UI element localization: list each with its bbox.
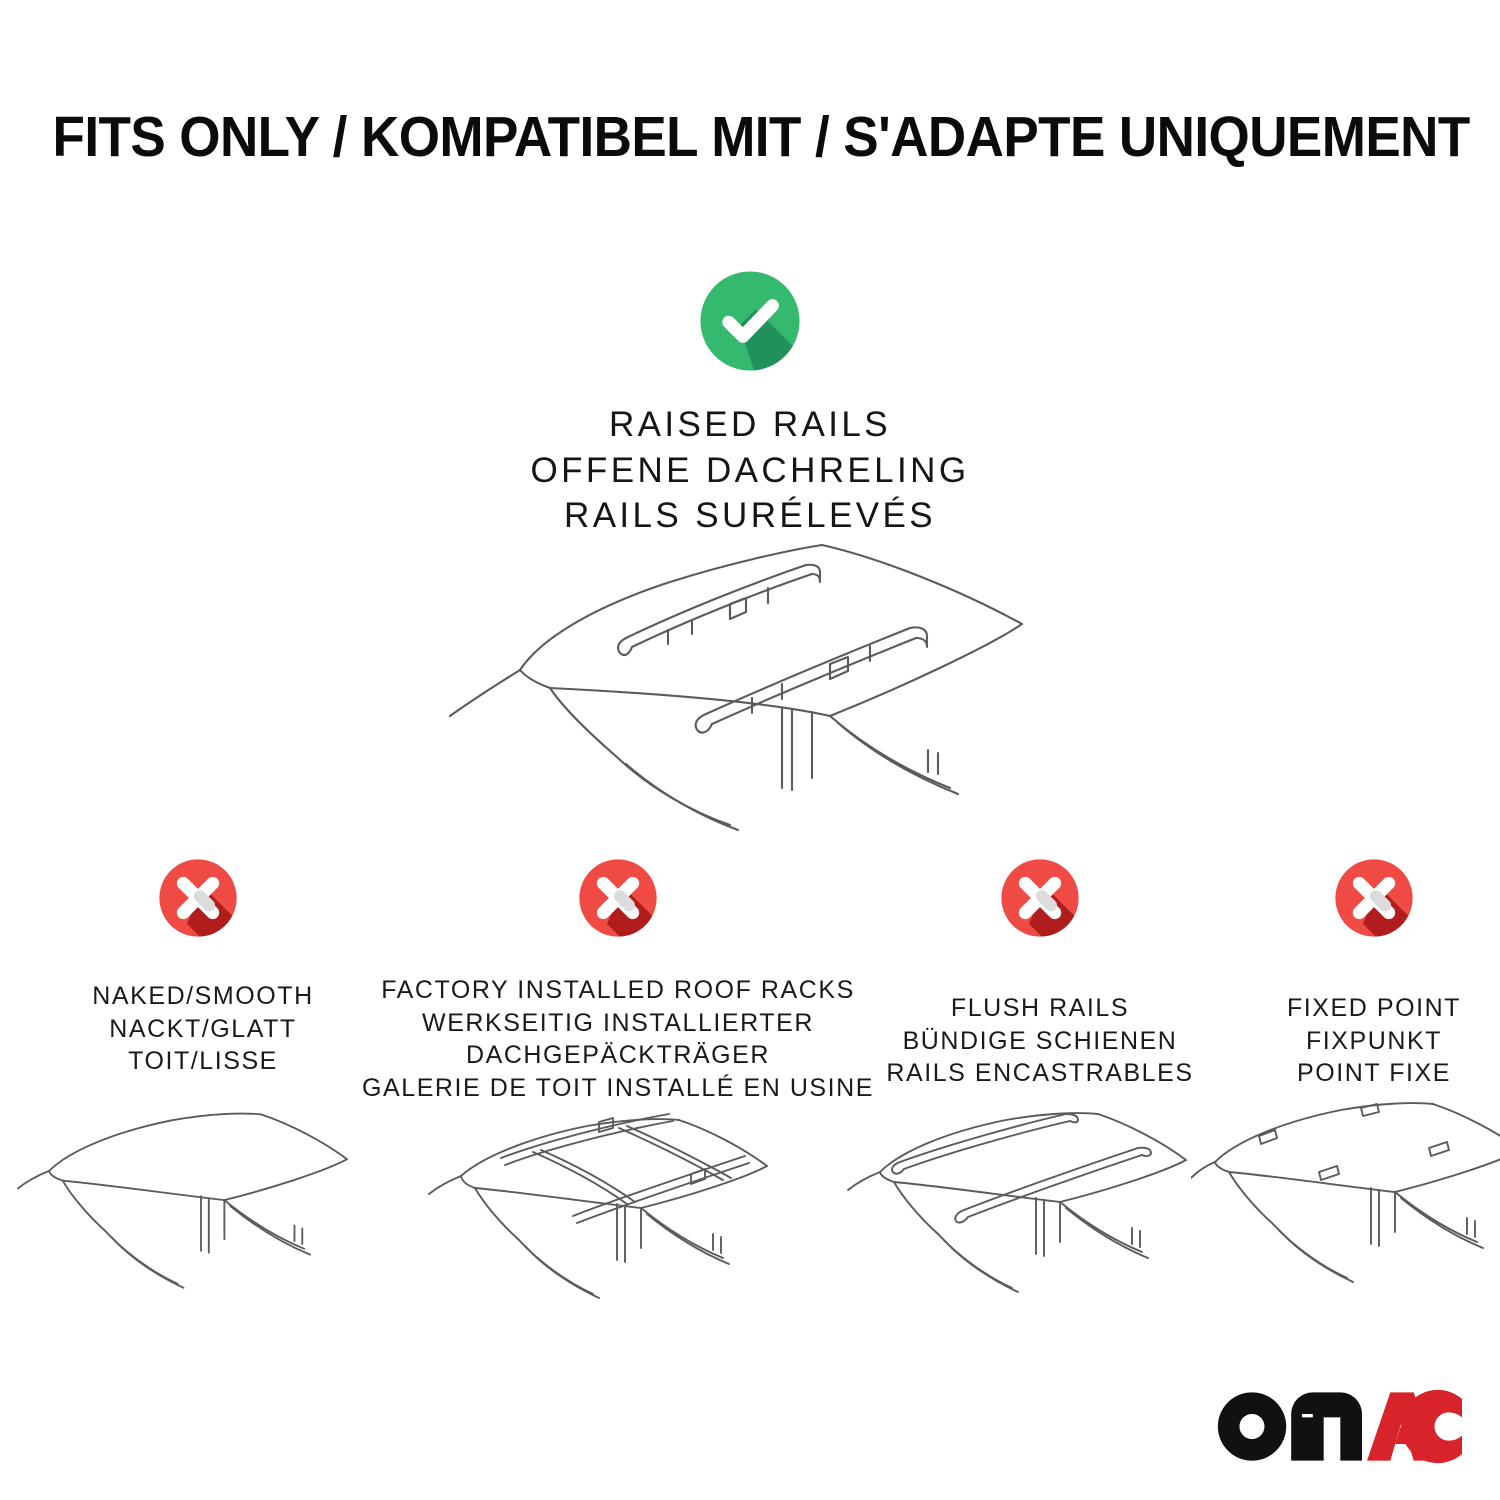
label-en: FACTORY INSTALLED ROOF RACKS	[362, 974, 874, 1007]
incompatible-item-flush-rails: FLUSH RAILS BÜNDIGE SCHIENEN RAILS ENCAS…	[870, 852, 1210, 1326]
compatible-labels: RAISED RAILS OFFENE DACHRELING RAILS SUR…	[531, 402, 970, 539]
cross-circle-icon	[572, 852, 664, 944]
cross-circle-icon	[1328, 852, 1420, 944]
compatible-label-de: OFFENE DACHRELING	[531, 448, 970, 494]
cross-circle-icon	[994, 852, 1086, 944]
car-roof-factory-roof-racks-artwork	[423, 1112, 813, 1342]
label-de-2: DACHGEPÄCKTRÄGER	[362, 1039, 874, 1072]
car-roof-naked-smooth-artwork	[16, 1090, 386, 1320]
incompatible-row: NAKED/SMOOTH NACKT/GLATT TOIT/LISSE	[0, 852, 1500, 1342]
label-de: NACKT/GLATT	[92, 1013, 313, 1046]
label-fr: TOIT/LISSE	[92, 1045, 313, 1078]
car-roof-raised-rails-artwork	[430, 520, 1070, 840]
logo-letter-o	[1218, 1392, 1286, 1460]
car-roof-flush-rails-artwork	[840, 1096, 1230, 1326]
check-circle-icon	[691, 262, 809, 380]
logo-letter-m	[1291, 1392, 1362, 1460]
label-de: BÜNDIGE SCHIENEN	[886, 1025, 1193, 1058]
incompatible-labels-factory-roof-racks: FACTORY INSTALLED ROOF RACKS WERKSEITIG …	[362, 974, 874, 1104]
incompatible-item-fixed-point: FIXED POINT FIXPUNKT POINT FIXE	[1234, 852, 1500, 1326]
label-en: FIXED POINT	[1287, 992, 1461, 1025]
cross-circle-icon	[152, 852, 244, 944]
compatible-section: RAISED RAILS OFFENE DACHRELING RAILS SUR…	[0, 262, 1500, 539]
incompatible-item-factory-roof-racks: FACTORY INSTALLED ROOF RACKS WERKSEITIG …	[388, 852, 848, 1342]
brand-logo-omac	[1212, 1389, 1462, 1464]
label-fr: RAILS ENCASTRABLES	[886, 1057, 1193, 1090]
label-fr: POINT FIXE	[1287, 1057, 1461, 1090]
incompatible-labels-fixed-point: FIXED POINT FIXPUNKT POINT FIXE	[1287, 992, 1461, 1090]
label-en: FLUSH RAILS	[886, 992, 1193, 1025]
page-title: FITS ONLY / KOMPATIBEL MIT / S'ADAPTE UN…	[53, 104, 1448, 170]
incompatible-labels-naked-smooth: NAKED/SMOOTH NACKT/GLATT TOIT/LISSE	[92, 980, 313, 1078]
label-de: FIXPUNKT	[1287, 1025, 1461, 1058]
label-de-1: WERKSEITIG INSTALLIERTER	[362, 1007, 874, 1040]
fitment-infographic: FITS ONLY / KOMPATIBEL MIT / S'ADAPTE UN…	[0, 0, 1500, 1500]
car-roof-fixed-point-artwork	[1191, 1096, 1500, 1326]
label-en: NAKED/SMOOTH	[92, 980, 313, 1013]
compatible-label-en: RAISED RAILS	[531, 402, 970, 448]
incompatible-labels-flush-rails: FLUSH RAILS BÜNDIGE SCHIENEN RAILS ENCAS…	[886, 992, 1193, 1090]
label-fr: GALERIE DE TOIT INSTALLÉ EN USINE	[362, 1072, 874, 1105]
incompatible-item-naked-smooth: NAKED/SMOOTH NACKT/GLATT TOIT/LISSE	[38, 852, 368, 1320]
